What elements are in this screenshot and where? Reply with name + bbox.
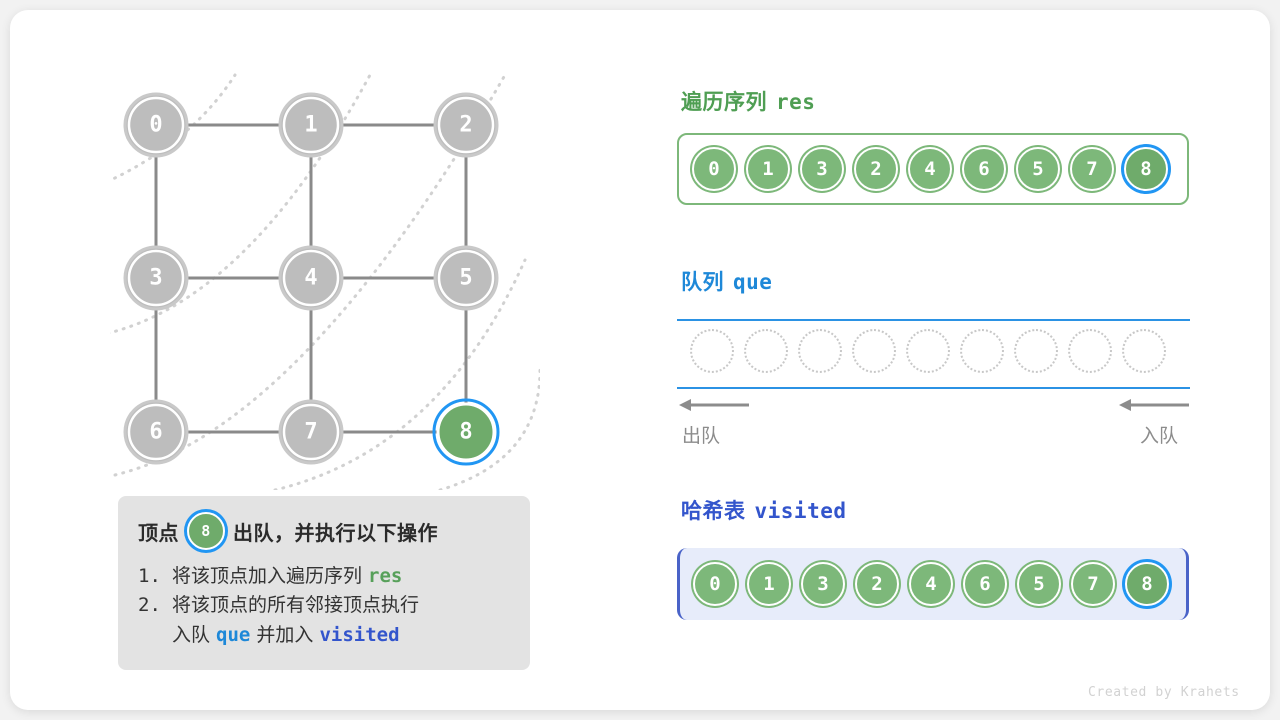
- que-empty-slot: [1014, 329, 1058, 373]
- res-token: 0: [692, 147, 736, 191]
- dequeue-label: 出队: [682, 421, 720, 448]
- res-token: 3: [800, 147, 844, 191]
- visited-token-active: 8: [1125, 562, 1169, 606]
- graph-node-4-label: 4: [304, 266, 317, 291]
- graph-node-8[interactable]: 8: [434, 400, 498, 464]
- que-container: [677, 319, 1190, 389]
- caption-step-2: 2. 将该顶点的所有邻接顶点执行: [138, 591, 510, 620]
- graph-node-2[interactable]: 2: [435, 94, 497, 156]
- que-title-code: que: [733, 270, 772, 294]
- res-container: 0 1 3 2 4 6 5 7 8: [677, 133, 1189, 205]
- graph-node-6-label: 6: [149, 420, 162, 445]
- graph-node-0[interactable]: 0: [125, 94, 187, 156]
- que-empty-slot: [1122, 329, 1166, 373]
- graph-node-3[interactable]: 3: [125, 247, 187, 309]
- graph-node-0-label: 0: [149, 113, 162, 138]
- res-token: 1: [746, 147, 790, 191]
- caption-step-2-code-visited: visited: [319, 624, 399, 646]
- visited-token: 2: [855, 562, 899, 606]
- que-slot-list: [685, 329, 1171, 373]
- res-token: 2: [854, 147, 898, 191]
- caption-step-2-part-2: 并加入: [250, 624, 319, 646]
- graph-node-8-label: 8: [459, 420, 472, 445]
- credit-text: Created by Krahets: [1088, 685, 1240, 700]
- que-empty-slot: [744, 329, 788, 373]
- caption-step-1: 1. 将该顶点加入遍历序列 res: [138, 562, 510, 591]
- visited-token: 1: [747, 562, 791, 606]
- visited-token: 0: [693, 562, 737, 606]
- graph-node-1-label: 1: [304, 113, 317, 138]
- caption-box: 顶点 8 出队，并执行以下操作 1. 将该顶点加入遍历序列 res 2. 将该顶…: [118, 496, 530, 670]
- graph-node-3-label: 3: [149, 266, 162, 291]
- res-title-code: res: [776, 90, 815, 114]
- que-empty-slot: [798, 329, 842, 373]
- visited-container: 0 1 3 2 4 6 5 7 8: [677, 548, 1189, 620]
- caption-step-1-text: 将该顶点加入遍历序列 res: [172, 562, 402, 591]
- visited-token: 6: [963, 562, 1007, 606]
- caption-step-2-number: 2.: [138, 591, 172, 620]
- graph-svg: 0 1 2 3: [110, 70, 540, 490]
- caption-step-1-number: 1.: [138, 562, 172, 591]
- res-token: 6: [962, 147, 1006, 191]
- graph-panel: 0 1 2 3: [110, 70, 540, 490]
- caption-step-1-code-res: res: [368, 565, 402, 587]
- enqueue-arrow-icon: [1117, 395, 1190, 415]
- que-empty-slot: [852, 329, 896, 373]
- caption-vertex-badge: 8: [187, 512, 225, 550]
- caption-step-2-text: 将该顶点的所有邻接顶点执行: [172, 591, 419, 620]
- screenshot-root: 0 1 2 3: [0, 0, 1280, 720]
- graph-node-7[interactable]: 7: [280, 401, 342, 463]
- caption-title-prefix: 顶点: [138, 517, 179, 546]
- res-token-active: 8: [1124, 147, 1168, 191]
- enqueue-label: 入队: [1140, 421, 1178, 448]
- visited-title-label: 哈希表: [681, 499, 746, 523]
- caption-title-suffix: 出队，并执行以下操作: [233, 517, 438, 546]
- que-title-label: 队列: [681, 270, 724, 294]
- que-top-rule: [677, 319, 1190, 321]
- caption-step-1-part-0: 将该顶点加入遍历序列: [172, 565, 368, 587]
- caption-step-2-code-que: que: [216, 624, 250, 646]
- graph-node-6[interactable]: 6: [125, 401, 187, 463]
- que-section-title: 队列que: [681, 266, 772, 296]
- dequeue-arrow-icon: [677, 395, 750, 415]
- caption-step-2-cont-text: 入队 que 并加入 visited: [172, 621, 400, 650]
- que-bottom-rule: [677, 387, 1190, 389]
- res-token: 5: [1016, 147, 1060, 191]
- que-empty-slot: [960, 329, 1004, 373]
- visited-title-code: visited: [755, 499, 847, 523]
- visited-token: 5: [1017, 562, 1061, 606]
- que-empty-slot: [1068, 329, 1112, 373]
- graph-node-1[interactable]: 1: [280, 94, 342, 156]
- graph-node-2-label: 2: [459, 113, 472, 138]
- graph-node-7-label: 7: [304, 420, 317, 445]
- graph-node-5[interactable]: 5: [435, 247, 497, 309]
- caption-step-2-continuation: 入队 que 并加入 visited: [138, 621, 510, 650]
- caption-title: 顶点 8 出队，并执行以下操作: [138, 512, 510, 550]
- que-direction-row: 出队 入队: [677, 395, 1190, 457]
- res-token: 7: [1070, 147, 1114, 191]
- res-token: 4: [908, 147, 952, 191]
- que-empty-slot: [690, 329, 734, 373]
- res-title-label: 遍历序列: [681, 90, 767, 114]
- que-empty-slot: [906, 329, 950, 373]
- visited-section-title: 哈希表visited: [681, 495, 847, 525]
- graph-node-5-label: 5: [459, 266, 472, 291]
- content-card: 0 1 2 3: [10, 10, 1270, 710]
- visited-token: 3: [801, 562, 845, 606]
- visited-token: 7: [1071, 562, 1115, 606]
- graph-node-4[interactable]: 4: [280, 247, 342, 309]
- res-section-title: 遍历序列res: [681, 86, 815, 116]
- caption-step-2-part-0: 入队: [172, 624, 216, 646]
- visited-token: 4: [909, 562, 953, 606]
